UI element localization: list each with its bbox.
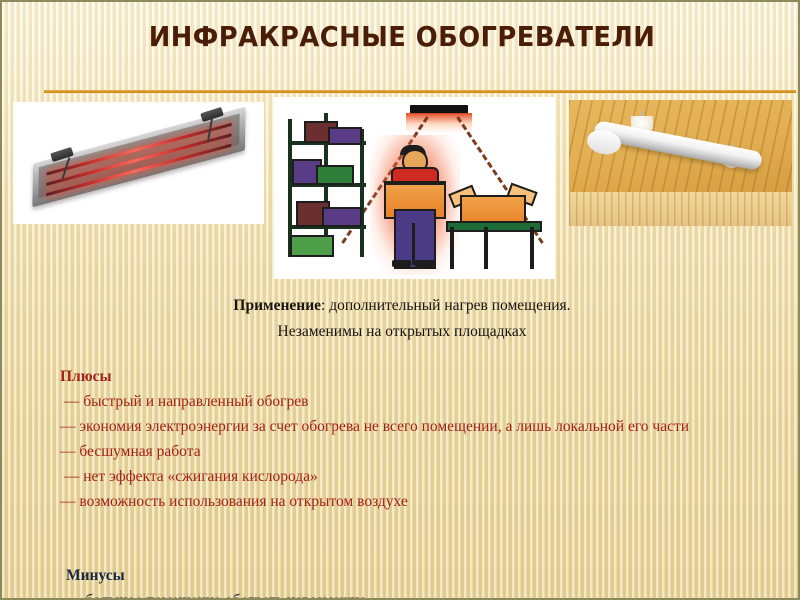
pros-item: — бесшумная работа [60,439,760,464]
usage-lead-label: Применение [233,297,321,314]
stored-box [290,235,334,257]
cons-heading: Минусы [66,563,766,588]
table-leg [530,227,534,269]
pros-heading: Плюсы [60,364,760,389]
pros-item: — нет эффекта «сжигания кислорода» [60,464,760,489]
title-divider [44,90,796,93]
panel-heater-illustration [13,102,264,224]
stored-box [322,207,362,227]
image-radiant-heat-diagram [274,97,555,279]
infrared-tube [46,144,231,197]
wooden-wall [569,192,792,226]
table-leg [450,227,454,269]
person-leg-split [412,223,415,265]
person-shoe [392,260,411,267]
usage-line-secondary: Незаменимы на открытых площадках [122,319,682,345]
cons-text-block: Минусы — большое помещение обогреть нево… [66,563,766,600]
presentation-slide: ИНФРАКРАСНЫЕ ОБОГРЕВАТЕЛИ [0,0,800,600]
infrared-tube [47,133,232,186]
stored-box [328,127,362,145]
cons-item: — большое помещение обогреть невозможно [66,588,766,600]
image-ceiling-mounted-heater [569,100,792,226]
shelf-post [360,129,364,257]
usage-line-primary: Применение: дополнительный нагрев помеще… [122,293,682,319]
usage-text-block: Применение: дополнительный нагрев помеще… [122,293,682,345]
pros-text-block: Плюсы — быстрый и направленный обогрев —… [60,364,760,514]
table-leg [484,227,488,269]
work-table-top [446,221,542,232]
image-infrared-panel-heater [13,102,264,224]
person-shoe [415,260,434,267]
stored-box [316,165,354,185]
pros-item: — быстрый и направленный обогрев [60,389,760,414]
pros-item: — экономия электроэнергии за счет обогре… [60,414,760,439]
radiant-diagram [274,97,555,279]
page-title: ИНФРАКРАСНЫЕ ОБОГРЕВАТЕЛИ [34,20,770,53]
pros-item: — возможность использования на открытом … [60,489,760,514]
usage-lead-rest: : дополнительный нагрев помещения. [321,297,571,314]
warehouse-shelving [288,119,366,257]
